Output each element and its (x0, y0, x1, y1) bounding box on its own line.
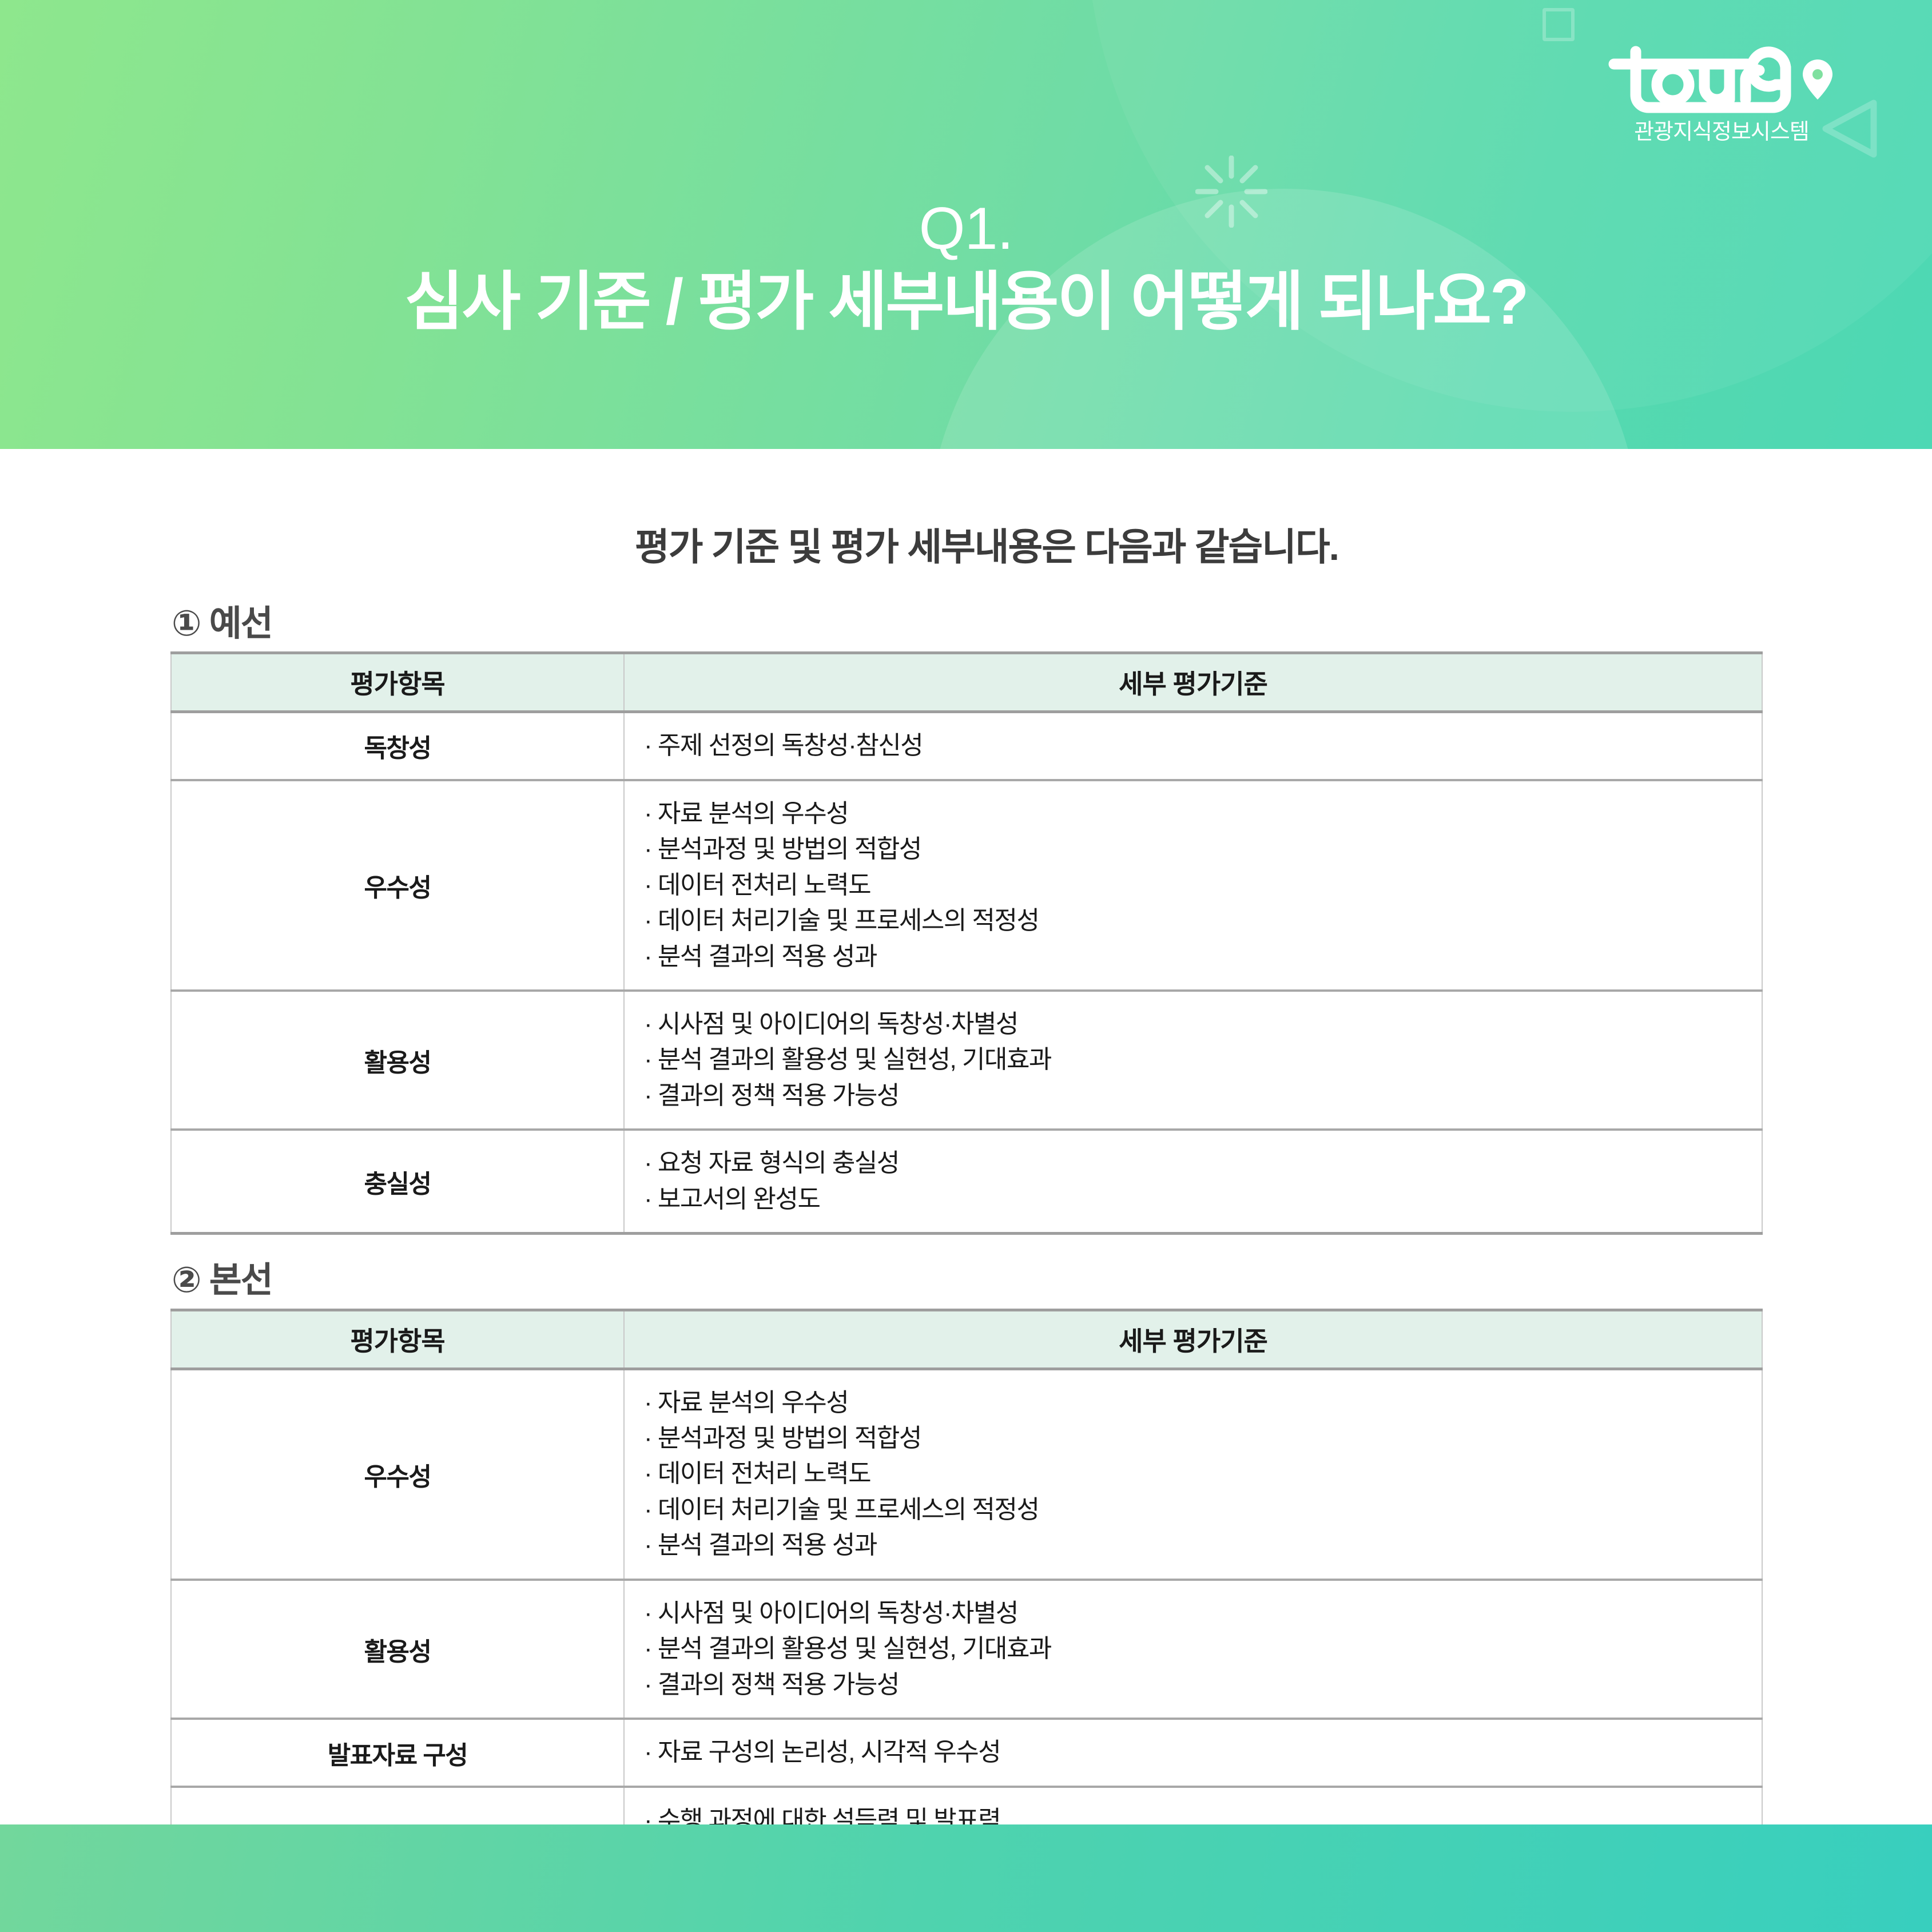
cell-item: 충실성 (171, 1130, 624, 1233)
cell-item: 우수성 (171, 780, 624, 991)
faq-card: 관광지식정보시스템 Q1. 심사 기준 / 평가 세부내용이 어떻게 되나요? … (0, 0, 1932, 1932)
table-row: 우수성 자료 분석의 우수성 분석과정 및 방법의 적합성 데이터 전처리 노력… (171, 780, 1762, 991)
column-header-item: 평가항목 (171, 653, 624, 712)
section-label-preliminary: ① 예선 (172, 605, 1932, 643)
table-header-row: 평가항목 세부 평가기준 (171, 653, 1762, 712)
cell-criteria: 주제 선정의 독창성·참신성 (624, 712, 1762, 780)
cell-item: 활용성 (171, 1580, 624, 1719)
column-header-criteria: 세부 평가기준 (624, 653, 1762, 712)
table-row: 활용성 시사점 및 아이디어의 독창성·차별성 분석 결과의 활용성 및 실현성… (171, 1580, 1762, 1719)
table-row: 우수성 자료 분석의 우수성 분석과정 및 방법의 적합성 데이터 전처리 노력… (171, 1369, 1762, 1580)
column-header-item: 평가항목 (171, 1310, 624, 1369)
table-header-row: 평가항목 세부 평가기준 (171, 1310, 1762, 1369)
evaluation-table-final: 평가항목 세부 평가기준 우수성 자료 분석의 우수성 분석과정 및 방법의 적… (170, 1309, 1763, 1892)
section-label-final: ② 본선 (172, 1261, 1932, 1300)
lead-text: 평가 기준 및 평가 세부내용은 다음과 같습니다. (21, 449, 1932, 571)
evaluation-table-preliminary: 평가항목 세부 평가기준 독창성 주제 선정의 독창성·참신성 우수성 자료 분… (170, 651, 1763, 1235)
page-title: 심사 기준 / 평가 세부내용이 어떻게 되나요? (0, 264, 1932, 340)
table-row: 독창성 주제 선정의 독창성·참신성 (171, 712, 1762, 780)
footer-band (0, 1824, 1932, 1932)
column-header-criteria: 세부 평가기준 (624, 1310, 1762, 1369)
table-row: 활용성 시사점 및 아이디어의 독창성·차별성 분석 결과의 활용성 및 실현성… (171, 991, 1762, 1130)
cell-item: 우수성 (171, 1369, 624, 1580)
table-row: 발표자료 구성 자료 구성의 논리성, 시각적 우수성 (171, 1719, 1762, 1786)
cell-criteria: 자료 분석의 우수성 분석과정 및 방법의 적합성 데이터 전처리 노력도 데이… (624, 780, 1762, 991)
cell-item: 활용성 (171, 991, 624, 1130)
cell-criteria: 자료 구성의 논리성, 시각적 우수성 (624, 1719, 1762, 1786)
cell-criteria: 시사점 및 아이디어의 독창성·차별성 분석 결과의 활용성 및 실현성, 기대… (624, 991, 1762, 1130)
header-banner: 관광지식정보시스템 Q1. 심사 기준 / 평가 세부내용이 어떻게 되나요? (0, 0, 1932, 452)
cell-item: 독창성 (171, 712, 624, 780)
cell-item: 발표자료 구성 (171, 1719, 624, 1786)
cell-criteria: 요청 자료 형식의 충실성 보고서의 완성도 (624, 1130, 1762, 1233)
table-row: 충실성 요청 자료 형식의 충실성 보고서의 완성도 (171, 1130, 1762, 1233)
content-card: 평가 기준 및 평가 세부내용은 다음과 같습니다. ① 예선 평가항목 세부 … (0, 449, 1932, 1836)
cell-criteria: 자료 분석의 우수성 분석과정 및 방법의 적합성 데이터 전처리 노력도 데이… (624, 1369, 1762, 1580)
header-title-block: Q1. 심사 기준 / 평가 세부내용이 어떻게 되나요? (0, 0, 1932, 341)
question-number: Q1. (0, 198, 1932, 260)
cell-criteria: 시사점 및 아이디어의 독창성·차별성 분석 결과의 활용성 및 실현성, 기대… (624, 1580, 1762, 1719)
